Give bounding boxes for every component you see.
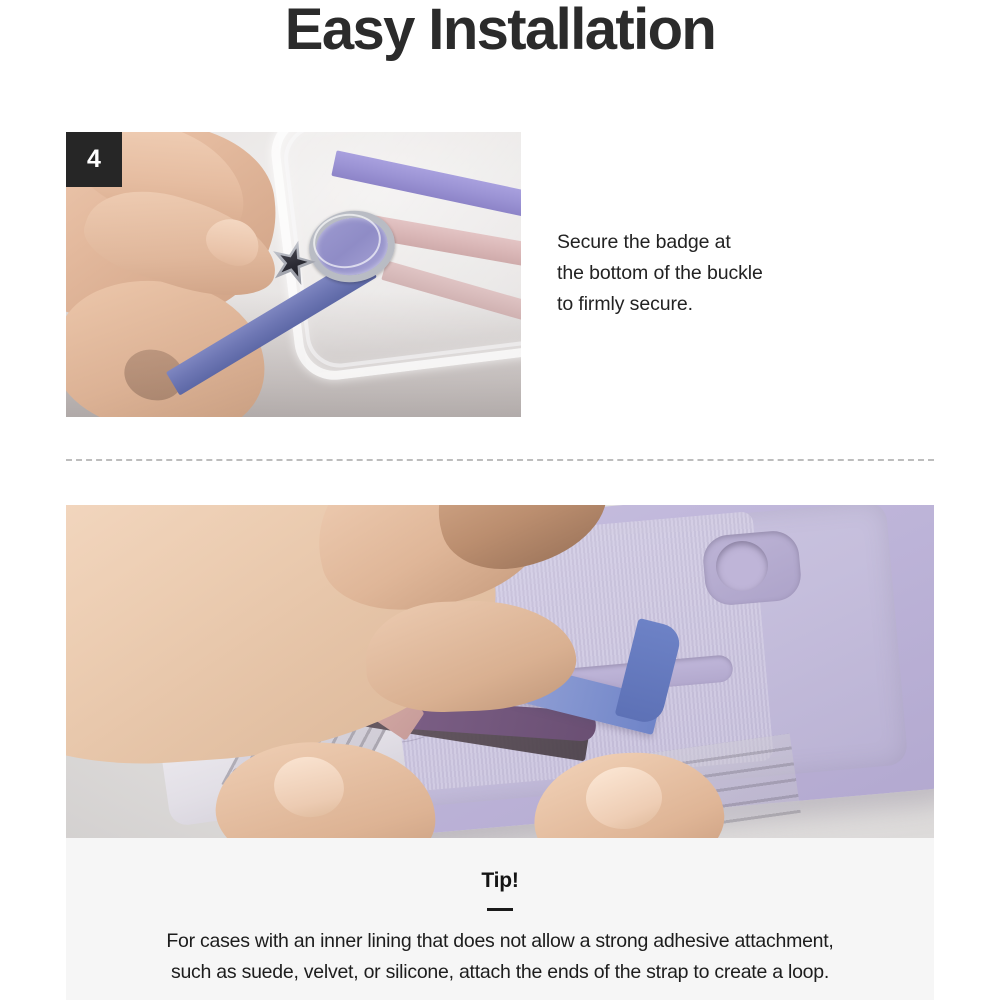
caption-line-1: Secure the badge at [557,227,927,258]
tip-body-line-1: For cases with an inner lining that does… [66,926,934,957]
tip-heading: Tip! [66,869,934,893]
step-4-photo: 4 [66,132,521,417]
dashed-divider [66,459,934,461]
caption-line-2: the bottom of the buckle [557,258,927,289]
tip-photo [66,505,934,838]
step-number-badge: 4 [66,132,122,187]
page-title: Easy Installation [0,0,1000,64]
tip-body: For cases with an inner lining that does… [66,926,934,988]
tip-divider-rule [487,908,513,911]
tip-panel: Tip! For cases with an inner lining that… [66,838,934,1000]
step-4-section: 4 Secure the badge at the bottom of the … [66,132,934,417]
tip-body-line-2: such as suede, velvet, or silicone, atta… [66,957,934,988]
step-4-caption: Secure the badge at the bottom of the bu… [557,227,927,320]
caption-line-3: to firmly secure. [557,289,927,320]
installation-guide-page: Easy Installation 4 Secure the [0,0,1000,1000]
